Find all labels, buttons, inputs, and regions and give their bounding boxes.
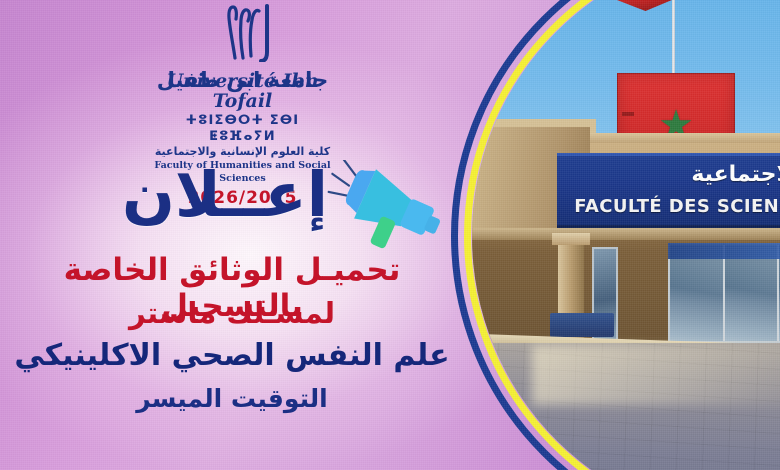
page-title: إعــلان — [8, 163, 328, 227]
announcement-line-4: التوقيت الميسر — [0, 384, 464, 414]
logo-calligraphy-icon — [183, 4, 303, 62]
door-pane — [725, 245, 780, 341]
faculty-building-photo: ★ ★ لية العلوم الإنسانية و الاجتماعية FA… — [472, 0, 780, 470]
sign-french-text: FACULTÉ DES SCIENCES HUMAINES ET SOCIA — [574, 196, 780, 217]
announcement-line-3: علم النفس الصحي الاكلينيكي — [0, 338, 464, 374]
entrance-bench — [550, 313, 614, 337]
campus-photo-medallion: ★ ★ لية العلوم الإنسانية و الاجتماعية FA… — [451, 0, 780, 470]
door-pane — [670, 245, 725, 341]
sunlight-patch — [532, 345, 780, 405]
flag-pole — [672, 0, 675, 77]
portico-lintel — [472, 228, 780, 240]
announcement-line-2: لمسـلك ماستر — [0, 296, 464, 330]
logo-calligraphy-mark — [150, 4, 335, 71]
doors-transom-band — [668, 243, 780, 259]
faculty-sign-board: لية العلوم الإنسانية و الاجتماعية FACULT… — [557, 153, 780, 228]
portico-column-capital — [552, 233, 590, 245]
announcement-poster: ★ ★ لية العلوم الإنسانية و الاجتماعية FA… — [0, 0, 780, 470]
flag-panel-mark — [622, 112, 634, 116]
logo-tifinagh-name: ⵜⵓⵏⵉⴱⵔⵜ ⵉⴱⵏ ⵟⵓⴼⴰⵢⵍ — [150, 113, 335, 145]
sign-arabic-text: لية العلوم الإنسانية و الاجتماعية — [691, 162, 780, 187]
logo-french-name: Université Ibn Tofail — [150, 71, 335, 111]
logo-arabic-faculty: كلية العلوم الإنسانية والاجتماعية — [150, 145, 335, 159]
